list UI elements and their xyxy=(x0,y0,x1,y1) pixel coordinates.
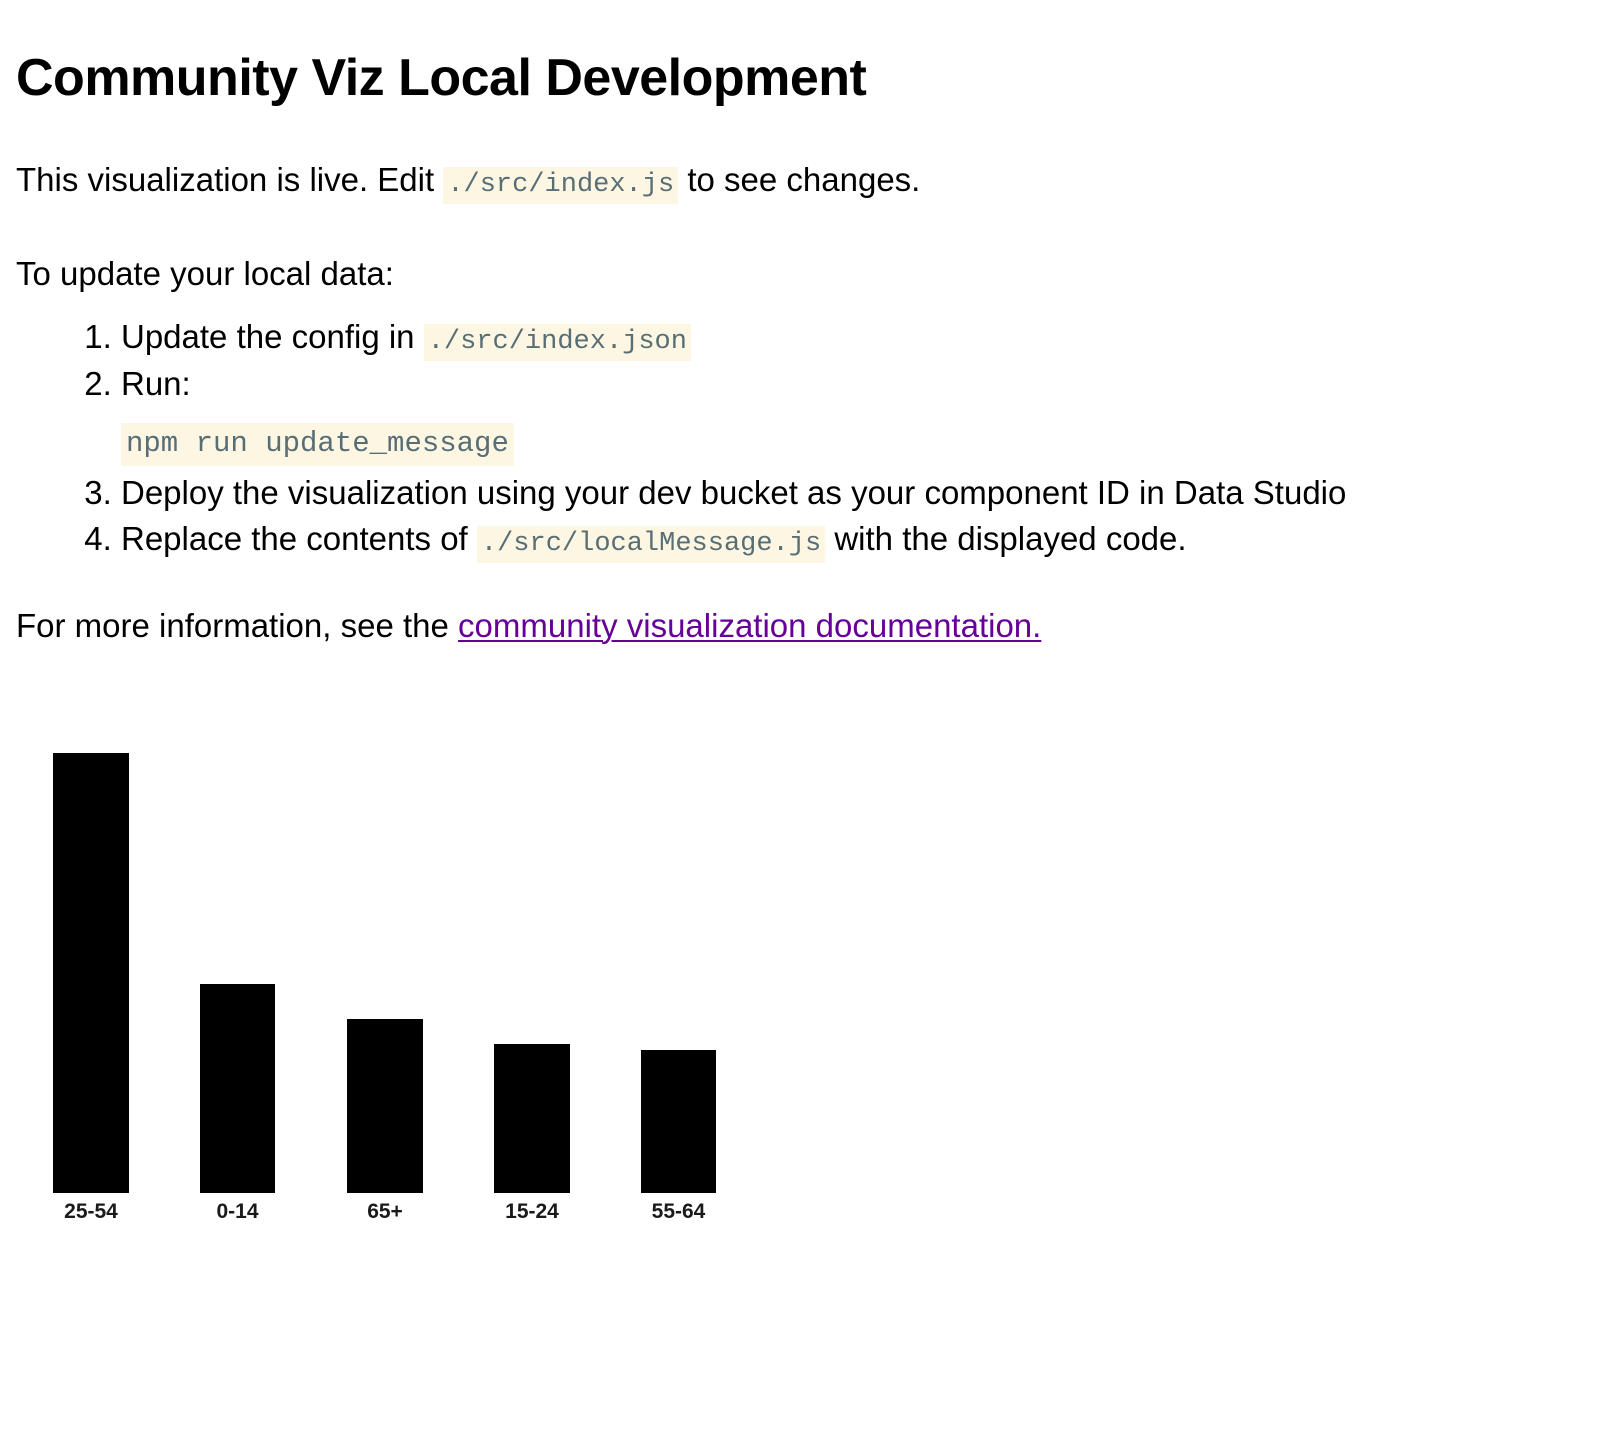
x-axis-label-55-64: 55-64 xyxy=(652,1200,706,1223)
bar-chart: 25-540-1465+15-2455-64 xyxy=(0,700,820,1260)
list-item: Run:npm run update_message xyxy=(121,361,1584,464)
community-visualization-documentation-link[interactable]: community visualization documentation. xyxy=(458,607,1041,644)
bar-25-54[interactable] xyxy=(53,753,129,1193)
step-4-text-before: Replace the contents of xyxy=(121,520,477,557)
steps-list: Update the config in ./src/index.json Ru… xyxy=(16,314,1584,563)
x-axis-label-25-54: 25-54 xyxy=(64,1200,118,1223)
x-axis-label-0-14: 0-14 xyxy=(216,1200,258,1223)
update-heading: To update your local data: xyxy=(16,203,1584,294)
viz-dev-page: Community Viz Local Development This vis… xyxy=(0,0,1600,1435)
intro-paragraph: This visualization is live. Edit ./src/i… xyxy=(16,107,1584,203)
bar-55-64[interactable] xyxy=(641,1050,716,1193)
intro-text-after: to see changes. xyxy=(678,161,920,198)
x-axis-label-15-24: 15-24 xyxy=(505,1200,559,1223)
list-item: Replace the contents of ./src/localMessa… xyxy=(121,516,1584,563)
bar-15-24[interactable] xyxy=(494,1044,570,1193)
more-info-text-before: For more information, see the xyxy=(16,607,458,644)
npm-command-block: npm run update_message xyxy=(121,417,1584,464)
local-message-js-code: ./src/localMessage.js xyxy=(477,526,825,563)
index-json-code: ./src/index.json xyxy=(424,324,691,361)
more-info-paragraph: For more information, see the community … xyxy=(16,563,1584,646)
bar-65+[interactable] xyxy=(347,1019,423,1193)
step-4-text-after: with the displayed code. xyxy=(825,520,1186,557)
step-2-text-before: Run: xyxy=(121,365,191,402)
list-item: Update the config in ./src/index.json xyxy=(121,314,1584,361)
index-js-code: ./src/index.js xyxy=(443,167,678,204)
step-3-text: Deploy the visualization using your dev … xyxy=(121,474,1346,511)
step-1-text-before: Update the config in xyxy=(121,318,424,355)
bar-0-14[interactable] xyxy=(200,984,275,1193)
list-item: Deploy the visualization using your dev … xyxy=(121,470,1584,516)
page-title: Community Viz Local Development xyxy=(16,0,1584,107)
x-axis-label-65+: 65+ xyxy=(367,1200,403,1223)
npm-run-update-message-code: npm run update_message xyxy=(121,423,514,466)
intro-text-before: This visualization is live. Edit xyxy=(16,161,443,198)
bar-chart-svg: 25-540-1465+15-2455-64 xyxy=(0,700,820,1260)
